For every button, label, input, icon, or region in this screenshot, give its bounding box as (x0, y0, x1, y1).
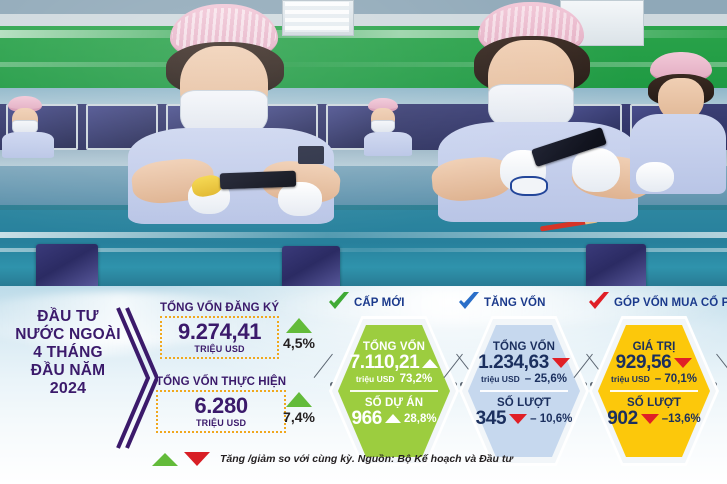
stat-unit: TRIỆU USD (170, 344, 269, 354)
stat-delta-up-2: 7,4% (278, 392, 320, 425)
row-unit: triệu USD (481, 374, 520, 384)
hexagon-row-bottom: SỐ LƯỢT 902 –13,6% (598, 392, 710, 457)
row-value-line: 929,56 (616, 353, 693, 373)
delta-value: 4,5% (278, 335, 320, 351)
infographic-panel: ĐẦU TƯ NƯỚC NGOÀI 4 THÁNG ĐẦU NĂM 2024 T… (0, 286, 727, 484)
legend-note: Tăng /giảm so với cùng kỳ. Nguồn: Bộ Kế … (152, 452, 513, 466)
phone-panel (36, 244, 98, 290)
hexagon-row-top: TỔNG VỐN 1.234,63 triệu USD – 25,6% (468, 325, 580, 390)
row-pct: – 70,1% (655, 373, 697, 385)
stat-value-box: 6.280 TRIỆU USD (156, 390, 286, 433)
row-unit: triệu USD (356, 374, 395, 384)
category-cap-moi: CẤP MỚI TỔNG VỐN 7.110,21 (328, 292, 460, 468)
background-worker (364, 98, 412, 156)
category-title: TĂNG VỐN (484, 297, 546, 309)
title-line-2: NƯỚC NGOÀI (8, 326, 128, 344)
stat-label: TỔNG VỐN THỰC HIỆN (156, 376, 286, 388)
hexagon-row-bottom: SỐ DỰ ÁN 966 28,8% (338, 392, 450, 457)
title-line-year: 2024 (8, 380, 128, 399)
category-tang-von: TĂNG VỐN TỔNG VỐN 1.234,63 (458, 292, 590, 468)
triangle-up-icon (385, 414, 401, 423)
stat-label: TỔNG VỐN ĐĂNG KÝ (160, 302, 279, 314)
hexagon-row-top: GIÁ TRỊ 929,56 triệu USD – 70,1% (598, 325, 710, 390)
page-title: ĐẦU TƯ NƯỚC NGOÀI 4 THÁNG ĐẦU NĂM 2024 (8, 308, 128, 398)
row-pct: 73,2% (400, 373, 433, 385)
category-header: TĂNG VỐN (458, 292, 590, 314)
row-pct: – 10,6% (530, 413, 572, 425)
triangle-down-icon (552, 358, 570, 368)
title-line-4: ĐẦU NĂM (8, 362, 128, 380)
row-sub-line: triệu USD 73,2% (356, 373, 432, 385)
row-value-line: 345 – 10,6% (476, 409, 573, 429)
row-value: 929,56 (616, 353, 672, 373)
row-value: 966 (351, 409, 382, 429)
hexagon-content: TỔNG VỐN 7.110,21 triệu USD 73,2% SỐ DỰ … (338, 325, 450, 457)
triangle-down-icon (674, 358, 692, 368)
swoosh-check-icon (458, 291, 480, 316)
triangle-up-icon (286, 392, 312, 407)
triangle-down-icon (184, 452, 210, 466)
category-title: GÓP VỐN MUA CỔ PHẦN (614, 297, 727, 309)
row-pct: – 25,6% (525, 373, 567, 385)
triangle-down-icon (641, 414, 659, 424)
triangle-down-icon (509, 414, 527, 424)
chevron-right-icon (112, 302, 158, 454)
header-photo (0, 0, 727, 292)
stat-delta-up-1: 4,5% (278, 318, 320, 351)
company-badge (510, 176, 548, 196)
stat-tong-von-dang-ky: TỔNG VỐN ĐĂNG KÝ 9.274,41 TRIỆU USD (160, 302, 279, 359)
title-line-3: 4 THÁNG (8, 344, 128, 362)
connector-line (314, 354, 333, 378)
stat-unit: TRIỆU USD (166, 418, 276, 428)
category-title: CẤP MỚI (354, 297, 405, 309)
row-pct: –13,6% (662, 413, 701, 425)
row-value: 7.110,21 (350, 353, 420, 373)
phone-panel (586, 244, 646, 290)
hexagon-card: TỔNG VỐN 1.234,63 triệu USD – 25,6% SỐ L… (458, 316, 590, 468)
title-line-1: ĐẦU TƯ (8, 308, 128, 326)
stat-value-box: 9.274,41 TRIỆU USD (160, 316, 279, 359)
triangle-up-icon (286, 318, 312, 333)
hexagon-card: TỔNG VỐN 7.110,21 triệu USD 73,2% SỐ DỰ … (328, 316, 460, 468)
category-header: CẤP MỚI (328, 292, 460, 314)
connector-line (716, 354, 727, 378)
row-value-line: 1.234,63 (478, 353, 570, 373)
row-pct: 28,8% (404, 413, 437, 425)
worker-left (110, 4, 340, 244)
triangle-up-icon (152, 453, 178, 466)
delta-value: 7,4% (278, 409, 320, 425)
row-unit: triệu USD (611, 374, 650, 384)
row-value-line: 902 –13,6% (607, 409, 701, 429)
hexagon-card: GIÁ TRỊ 929,56 triệu USD – 70,1% SỐ LƯỢT (588, 316, 720, 468)
row-value-line: 7.110,21 (350, 353, 439, 373)
category-header: GÓP VỐN MUA CỔ PHẦN (588, 292, 720, 314)
background-worker (2, 96, 54, 156)
row-sub-line: triệu USD – 25,6% (481, 373, 567, 385)
row-value-line: 966 28,8% (351, 409, 436, 429)
swoosh-check-icon (328, 291, 350, 316)
hexagon-row-top: TỔNG VỐN 7.110,21 triệu USD 73,2% (338, 325, 450, 390)
category-gop-von-mua-co-phan: GÓP VỐN MUA CỔ PHẦN GIÁ TRỊ 929,56 (588, 292, 720, 468)
shoulder-patch (298, 146, 324, 164)
hexagon-content: GIÁ TRỊ 929,56 triệu USD – 70,1% SỐ LƯỢT (598, 325, 710, 457)
row-value: 1.234,63 (478, 353, 549, 373)
legend-text: Tăng /giảm so với cùng kỳ. Nguồn: Bộ Kế … (220, 453, 513, 465)
row-value: 345 (476, 409, 507, 429)
row-value: 902 (607, 409, 638, 429)
stat-value: 6.280 (166, 395, 276, 417)
worker-right (416, 0, 652, 244)
infographic-root: ĐẦU TƯ NƯỚC NGOÀI 4 THÁNG ĐẦU NĂM 2024 T… (0, 0, 727, 484)
swoosh-check-icon (588, 291, 610, 316)
stat-tong-von-thuc-hien: TỔNG VỐN THỰC HIỆN 6.280 TRIỆU USD (156, 376, 286, 433)
hexagon-row-bottom: SỐ LƯỢT 345 – 10,6% (468, 392, 580, 457)
stat-value: 9.274,41 (170, 321, 269, 343)
hexagon-content: TỔNG VỐN 1.234,63 triệu USD – 25,6% SỐ L… (468, 325, 580, 457)
background-worker (630, 52, 726, 232)
row-sub-line: triệu USD – 70,1% (611, 373, 697, 385)
triangle-up-icon (422, 359, 438, 368)
